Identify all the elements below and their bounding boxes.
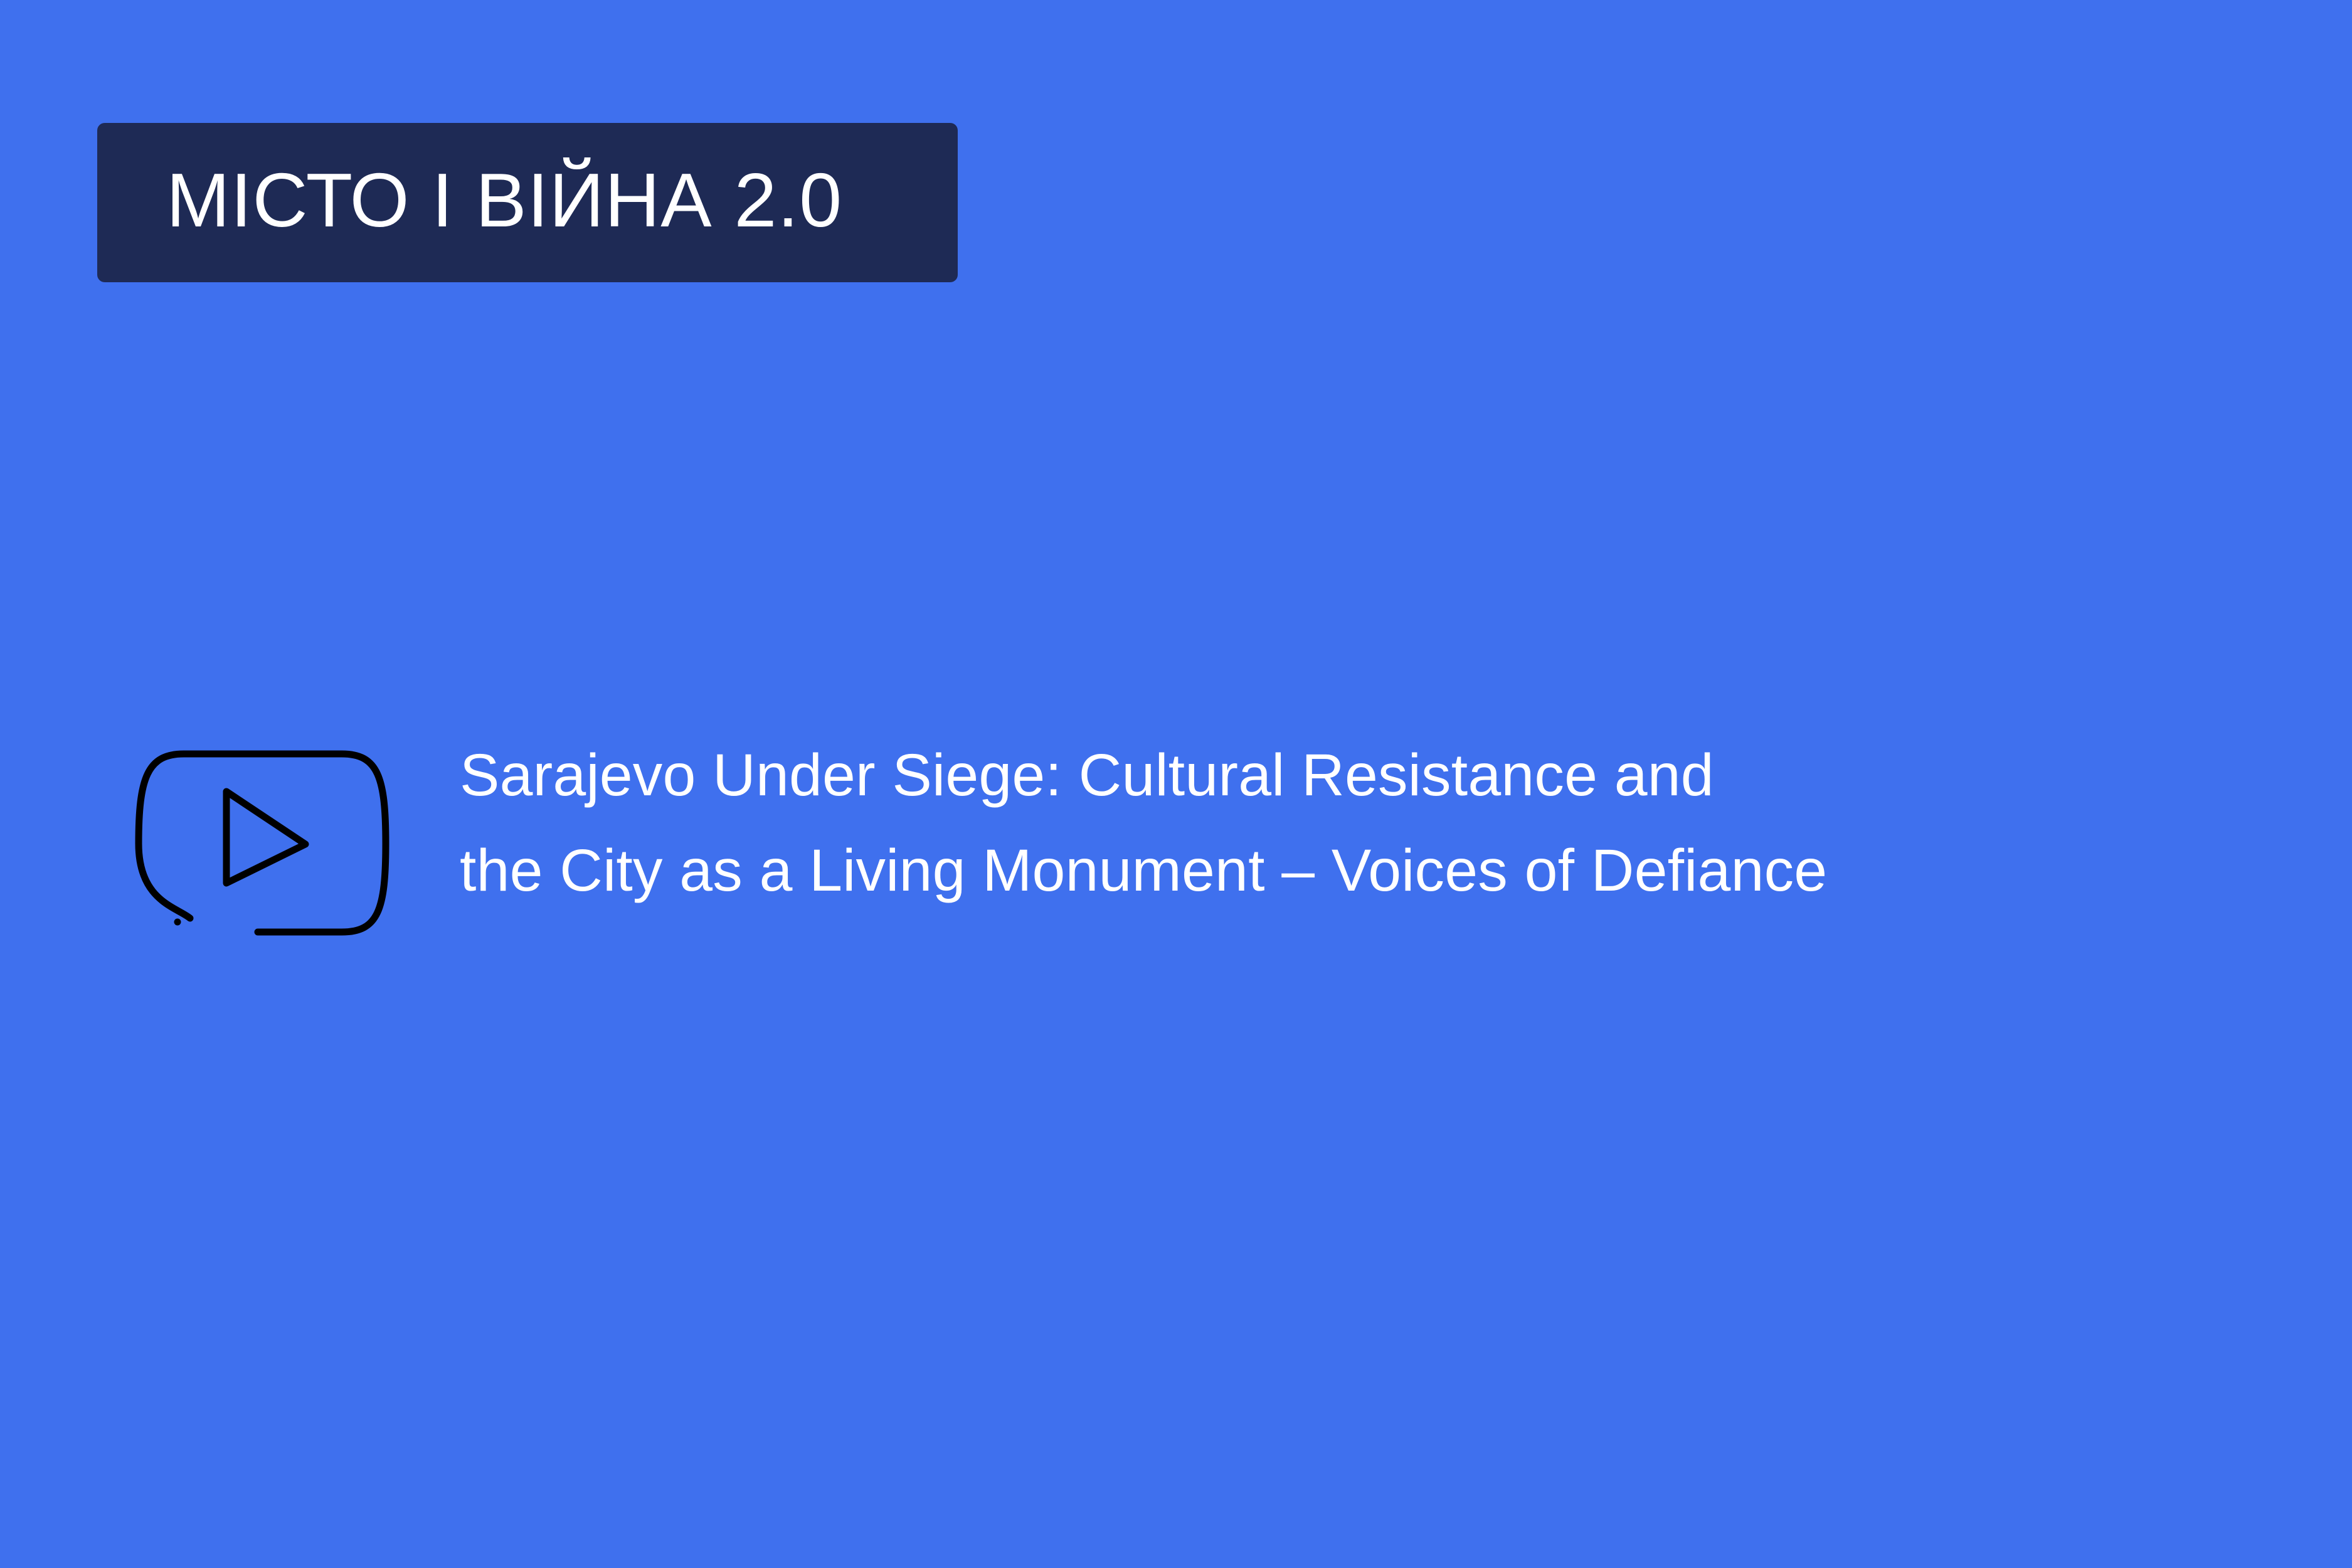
play-video-icon[interactable] [135,753,388,935]
presentation-slide: МІСТО І ВІЙНА 2.0 Sarajevo Under Siege: … [0,0,2352,1568]
episode-title-line-2: the City as a Living Monument – Voices o… [460,823,2228,918]
series-badge: МІСТО І ВІЙНА 2.0 [97,123,958,282]
episode-title: Sarajevo Under Siege: Cultural Resistanc… [460,728,2228,918]
series-badge-label: МІСТО І ВІЙНА 2.0 [97,162,842,238]
episode-title-line-1: Sarajevo Under Siege: Cultural Resistanc… [460,728,2228,823]
